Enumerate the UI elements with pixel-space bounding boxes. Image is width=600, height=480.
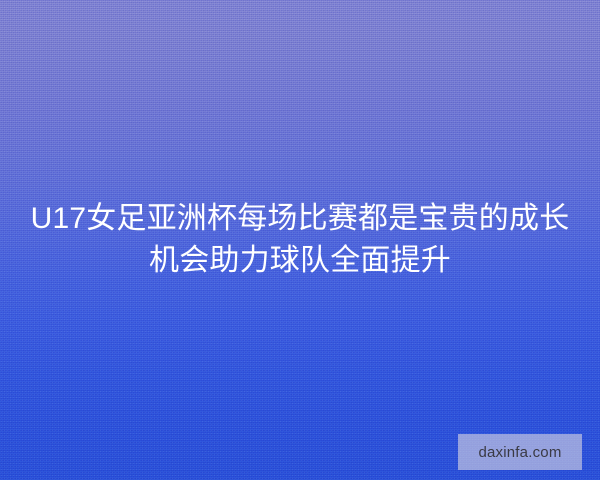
article-banner-image: U17女足亚洲杯每场比赛都是宝贵的成长 机会助力球队全面提升 daxinfa.c… bbox=[0, 0, 600, 480]
watermark-badge: daxinfa.com bbox=[458, 434, 582, 470]
banner-headline: U17女足亚洲杯每场比赛都是宝贵的成长 机会助力球队全面提升 bbox=[0, 198, 600, 282]
watermark-label: daxinfa.com bbox=[478, 445, 561, 460]
